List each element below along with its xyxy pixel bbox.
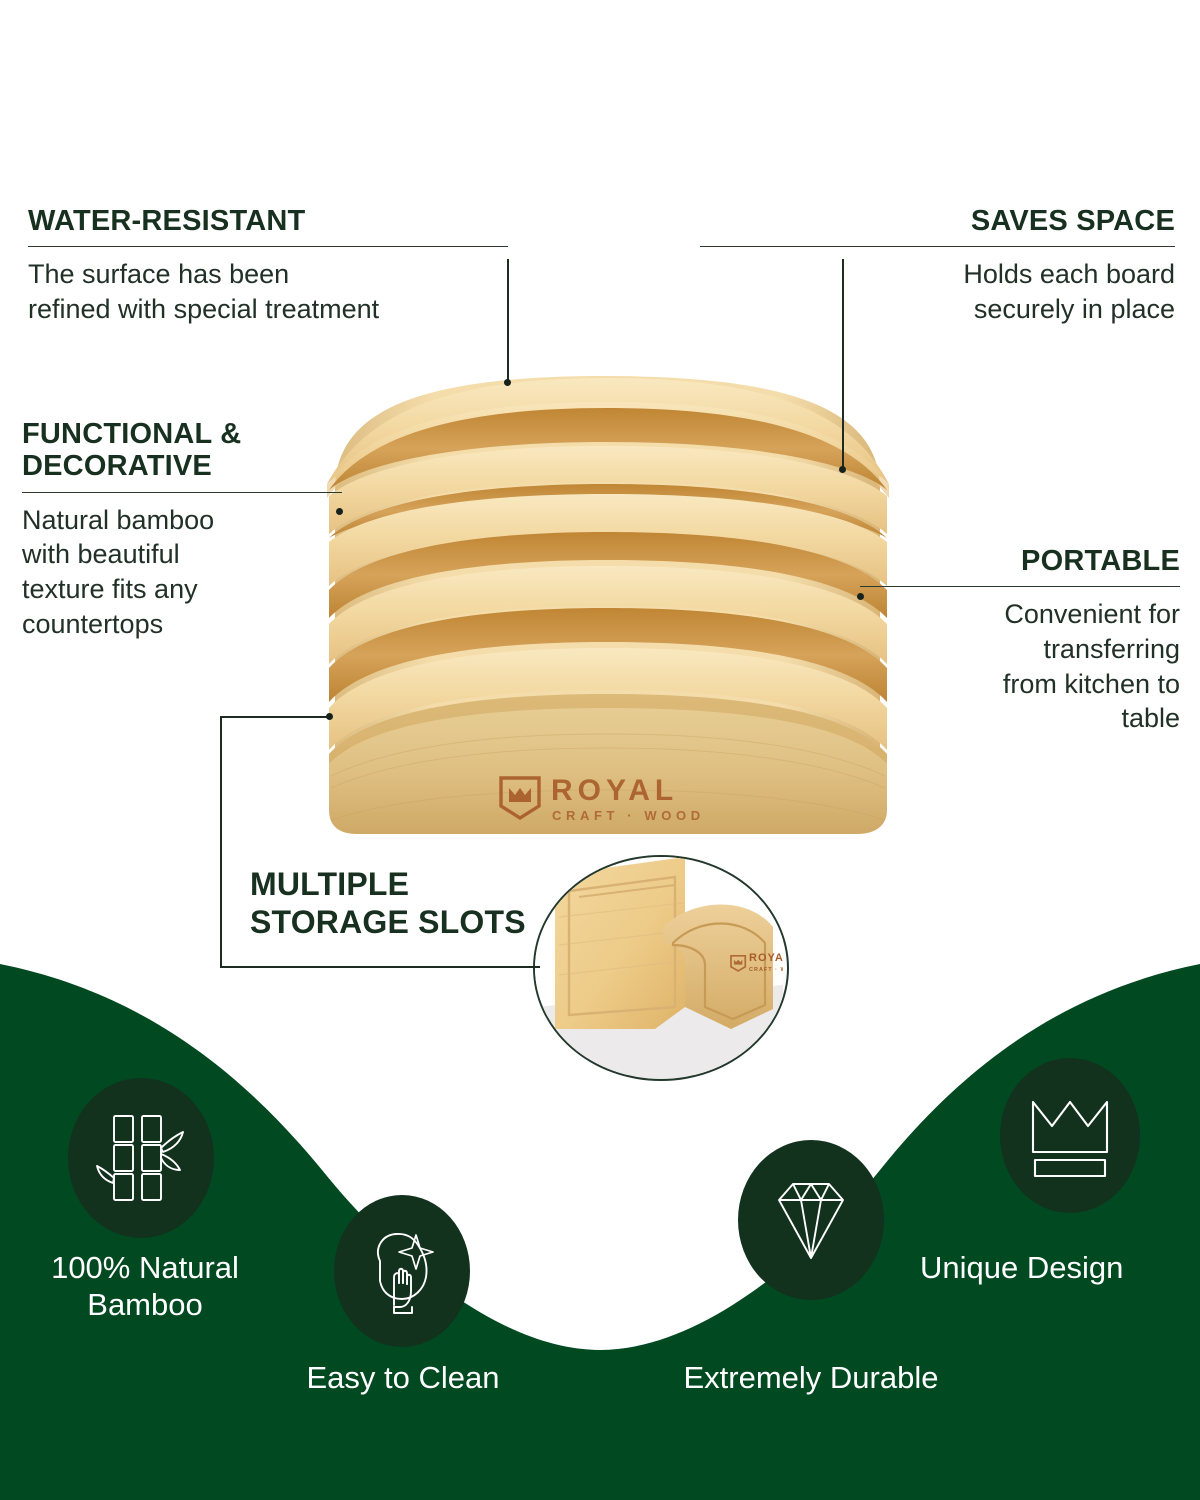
- connector-dot-functional-decorative: [336, 508, 343, 515]
- callout-body-saves-space: Holds each board securely in place: [700, 257, 1175, 326]
- callout-rule-water-resistant: [28, 246, 508, 247]
- callout-rule-portable: [860, 586, 1180, 587]
- connector-dot-storage-slots: [326, 713, 333, 720]
- connector-storage-slots-left: [220, 716, 222, 968]
- feature-badge-extremely-durable: [738, 1140, 884, 1300]
- callout-title-multiple-storage-slots: MULTIPLE STORAGE SLOTS: [250, 866, 580, 942]
- wipe-hand-icon: [356, 1221, 448, 1321]
- connector-storage-slots-bottom: [220, 966, 540, 968]
- infographic-canvas: 100% Natural Bamboo Easy to Clean Extrem…: [0, 0, 1200, 1500]
- connector-saves-space: [842, 259, 844, 470]
- callout-rule-saves-space: [700, 246, 1175, 247]
- bamboo-icon: [95, 1108, 187, 1208]
- connector-dot-saves-space: [839, 466, 846, 473]
- connector-storage-slots-top: [220, 716, 330, 718]
- connector-dot-water-resistant: [504, 379, 511, 386]
- diamond-icon: [761, 1170, 861, 1270]
- connector-dot-portable: [857, 593, 864, 600]
- inset-brand-name: ROYAL: [749, 952, 783, 964]
- product-brand-name: ROYAL: [551, 774, 678, 807]
- connector-water-resistant: [507, 259, 509, 383]
- callout-title-functional-decorative: FUNCTIONAL & DECORATIVE: [22, 418, 342, 483]
- feature-badge-natural-bamboo: [68, 1078, 214, 1238]
- feature-label-easy-to-clean: Easy to Clean: [258, 1360, 548, 1397]
- feature-badge-easy-to-clean: [334, 1195, 470, 1347]
- callout-multiple-storage-slots: MULTIPLE STORAGE SLOTS: [250, 866, 580, 942]
- inset-brand-tagline: CRAFT · WOOD: [749, 967, 783, 973]
- feature-label-unique-design: Unique Design: [920, 1250, 1200, 1287]
- callout-saves-space: SAVES SPACE Holds each board securely in…: [700, 205, 1175, 327]
- feature-badge-unique-design: [1000, 1058, 1140, 1213]
- callout-water-resistant: WATER-RESISTANT The surface has been ref…: [28, 205, 508, 327]
- feature-label-extremely-durable: Extremely Durable: [650, 1360, 972, 1397]
- callout-functional-decorative: FUNCTIONAL & DECORATIVE Natural bamboo w…: [22, 418, 342, 641]
- bamboo-holder-illustration: ROYAL CRAFT · WOOD: [305, 372, 910, 840]
- callout-rule-functional-decorative: [22, 492, 342, 493]
- product-brand-tagline: CRAFT · WOOD: [552, 808, 705, 823]
- callout-body-portable: Convenient for transferring from kitchen…: [860, 597, 1180, 735]
- callout-body-water-resistant: The surface has been refined with specia…: [28, 257, 508, 326]
- callout-body-functional-decorative: Natural bamboo with beautiful texture fi…: [22, 503, 342, 641]
- crown-icon: [1021, 1090, 1119, 1182]
- callout-portable: PORTABLE Convenient for transferring fro…: [860, 545, 1180, 736]
- callout-title-portable: PORTABLE: [860, 545, 1180, 577]
- feature-label-natural-bamboo: 100% Natural Bamboo: [0, 1250, 290, 1323]
- callout-title-saves-space: SAVES SPACE: [700, 205, 1175, 237]
- callout-title-water-resistant: WATER-RESISTANT: [28, 205, 508, 237]
- product-image-board-holder: ROYAL CRAFT · WOOD: [305, 372, 910, 840]
